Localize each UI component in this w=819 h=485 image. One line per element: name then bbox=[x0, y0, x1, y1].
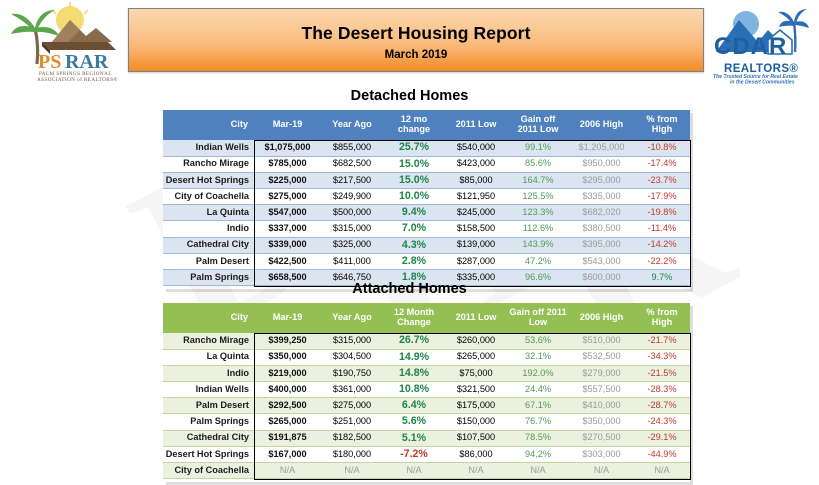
cell-city: Desert Hot Springs bbox=[163, 172, 254, 188]
cell-year-ago: $325,000 bbox=[321, 237, 383, 253]
cell-mar19: $339,000 bbox=[254, 237, 321, 253]
cell-city: La Quinta bbox=[163, 205, 254, 221]
cell-12mo-change: 7.0% bbox=[383, 221, 445, 237]
cell-year-ago: N/A bbox=[321, 463, 383, 479]
detached-homes-table-wrap: City Mar-19 Year Ago 12 mochange 2011 Lo… bbox=[163, 110, 690, 286]
cell-pct-from-high: -10.8% bbox=[634, 140, 690, 156]
cell-year-ago: $275,000 bbox=[321, 398, 383, 414]
cell-12month-change: 5.6% bbox=[383, 414, 445, 430]
cell-gain: 112.6% bbox=[507, 221, 569, 237]
col-head-mar19: Mar-19 bbox=[254, 110, 321, 140]
cell-city: Indian Wells bbox=[163, 140, 254, 156]
cell-12month-change: 5.1% bbox=[383, 430, 445, 446]
cell-year-ago: $251,000 bbox=[321, 414, 383, 430]
cell-year-ago: $315,000 bbox=[321, 333, 383, 349]
cell-2006-high: $557,500 bbox=[569, 382, 634, 398]
page-subtitle: March 2019 bbox=[385, 49, 448, 61]
col-head-gain-off-2011-low: Gain off2011 Low bbox=[507, 110, 569, 140]
cell-2011-low: $423,000 bbox=[445, 156, 507, 172]
cell-city: City of Coachella bbox=[163, 463, 254, 479]
cell-12mo-change: 25.7% bbox=[383, 140, 445, 156]
col-head-mar19: Mar-19 bbox=[254, 303, 321, 333]
table-row: Indio $219,000 $190,750 14.8% $75,000 19… bbox=[163, 365, 690, 381]
cell-2011-low: $75,000 bbox=[445, 365, 507, 381]
cell-2011-low: $85,000 bbox=[445, 172, 507, 188]
cell-2006-high: N/A bbox=[569, 463, 634, 479]
cell-pct-from-high: -17.4% bbox=[634, 156, 690, 172]
cell-pct-from-high: -24.3% bbox=[634, 414, 690, 430]
cell-mar19: $547,000 bbox=[254, 205, 321, 221]
psrar-logo: PS RAR PALM SPRINGS REGIONAL ASSOCIATION… bbox=[8, 2, 126, 84]
cell-2011-low: $260,000 bbox=[445, 333, 507, 349]
cell-city: Rancho Mirage bbox=[163, 156, 254, 172]
cell-12month-change: 10.8% bbox=[383, 382, 445, 398]
cell-mar19: $292,500 bbox=[254, 398, 321, 414]
cell-12month-change: 6.4% bbox=[383, 398, 445, 414]
cell-2006-high: $510,000 bbox=[569, 333, 634, 349]
table-row: Rancho Mirage $785,000 $682,500 15.0% $4… bbox=[163, 156, 690, 172]
cell-2011-low: $86,000 bbox=[445, 446, 507, 462]
cell-gain: 78.5% bbox=[507, 430, 569, 446]
cell-2006-high: $279,000 bbox=[569, 365, 634, 381]
cell-mar19: $275,000 bbox=[254, 189, 321, 205]
cell-12month-change: -7.2% bbox=[383, 446, 445, 462]
cell-2006-high: $682,020 bbox=[569, 205, 634, 221]
cell-year-ago: $361,000 bbox=[321, 382, 383, 398]
cell-2011-low: $321,500 bbox=[445, 382, 507, 398]
col-head-2011-low: 2011 Low bbox=[445, 110, 507, 140]
cell-2006-high: $532,500 bbox=[569, 349, 634, 365]
table-row: La Quinta $350,000 $304,500 14.9% $265,0… bbox=[163, 349, 690, 365]
cell-12month-change: 14.8% bbox=[383, 365, 445, 381]
cell-year-ago: $500,000 bbox=[321, 205, 383, 221]
cell-2006-high: $350,000 bbox=[569, 414, 634, 430]
table-row: Indio $337,000 $315,000 7.0% $158,500 11… bbox=[163, 221, 690, 237]
cell-city: Cathedral City bbox=[163, 237, 254, 253]
cell-mar19: $400,000 bbox=[254, 382, 321, 398]
cell-gain: N/A bbox=[507, 463, 569, 479]
cell-2011-low: $245,000 bbox=[445, 205, 507, 221]
cell-pct-from-high: -19.8% bbox=[634, 205, 690, 221]
cell-city: Rancho Mirage bbox=[163, 333, 254, 349]
svg-text:CALIFORNIA DESERT ASSOCIATION: CALIFORNIA DESERT ASSOCIATION OF bbox=[722, 57, 805, 62]
detached-table-body: Indian Wells $1,075,000 $855,000 25.7% $… bbox=[163, 140, 690, 286]
cell-city: Indian Wells bbox=[163, 382, 254, 398]
svg-text:in the Desert Communities: in the Desert Communities bbox=[730, 80, 795, 85]
cell-city: La Quinta bbox=[163, 349, 254, 365]
table-row: Indian Wells $400,000 $361,000 10.8% $32… bbox=[163, 382, 690, 398]
cell-city: Indio bbox=[163, 221, 254, 237]
cell-2006-high: $380,500 bbox=[569, 221, 634, 237]
cell-2011-low: $265,000 bbox=[445, 349, 507, 365]
detached-header-row: City Mar-19 Year Ago 12 mochange 2011 Lo… bbox=[163, 110, 690, 140]
col-head-year-ago: Year Ago bbox=[321, 110, 383, 140]
cell-gain: 67.1% bbox=[507, 398, 569, 414]
cell-12mo-change: 4.3% bbox=[383, 237, 445, 253]
cell-12mo-change: 2.8% bbox=[383, 253, 445, 269]
attached-header-row: City Mar-19 Year Ago 12 MonthChange 2011… bbox=[163, 303, 690, 333]
cell-year-ago: $180,000 bbox=[321, 446, 383, 462]
cell-pct-from-high: -14.2% bbox=[634, 237, 690, 253]
svg-text:PS: PS bbox=[38, 51, 61, 73]
table-row: Palm Desert $292,500 $275,000 6.4% $175,… bbox=[163, 398, 690, 414]
cell-2011-low: $121,950 bbox=[445, 189, 507, 205]
cell-2011-low: $107,500 bbox=[445, 430, 507, 446]
attached-table-body: Rancho Mirage $399,250 $315,000 26.7% $2… bbox=[163, 333, 690, 479]
cell-2011-low: $150,000 bbox=[445, 414, 507, 430]
cell-2011-low: $287,000 bbox=[445, 253, 507, 269]
cell-gain: 53.6% bbox=[507, 333, 569, 349]
table-row: Cathedral City $339,000 $325,000 4.3% $1… bbox=[163, 237, 690, 253]
cell-pct-from-high: N/A bbox=[634, 463, 690, 479]
cell-pct-from-high: -28.3% bbox=[634, 382, 690, 398]
cell-2006-high: $395,000 bbox=[569, 237, 634, 253]
cell-2006-high: $335,000 bbox=[569, 189, 634, 205]
cell-12month-change: 14.9% bbox=[383, 349, 445, 365]
cell-gain: 94.2% bbox=[507, 446, 569, 462]
cell-pct-from-high: -21.7% bbox=[634, 333, 690, 349]
table-row: Rancho Mirage $399,250 $315,000 26.7% $2… bbox=[163, 333, 690, 349]
cell-mar19: N/A bbox=[254, 463, 321, 479]
col-head-city: City bbox=[163, 303, 254, 333]
cell-2006-high: $543,000 bbox=[569, 253, 634, 269]
report-title-banner: The Desert Housing Report March 2019 bbox=[128, 8, 704, 72]
cell-gain: 99.1% bbox=[507, 140, 569, 156]
cell-mar19: $785,000 bbox=[254, 156, 321, 172]
cell-mar19: $167,000 bbox=[254, 446, 321, 462]
svg-text:RAR: RAR bbox=[65, 51, 109, 73]
svg-text:CDAR: CDAR bbox=[714, 33, 787, 60]
cell-pct-from-high: -11.4% bbox=[634, 221, 690, 237]
col-head-pct-from-high: % fromHigh bbox=[634, 110, 690, 140]
col-head-2011-low: 2011 Low bbox=[445, 303, 507, 333]
cell-2011-low: N/A bbox=[445, 463, 507, 479]
col-head-2006-high: 2006 High bbox=[569, 110, 634, 140]
table-row: Palm Desert $422,500 $411,000 2.8% $287,… bbox=[163, 253, 690, 269]
cell-gain: 164.7% bbox=[507, 172, 569, 188]
col-head-12month-change: 12 MonthChange bbox=[383, 303, 445, 333]
cell-year-ago: $217,500 bbox=[321, 172, 383, 188]
cell-2006-high: $295,000 bbox=[569, 172, 634, 188]
report-header: PS RAR PALM SPRINGS REGIONAL ASSOCIATION… bbox=[0, 0, 819, 86]
cell-gain: 123.3% bbox=[507, 205, 569, 221]
cell-12mo-change: 9.4% bbox=[383, 205, 445, 221]
cell-gain: 192.0% bbox=[507, 365, 569, 381]
col-head-city: City bbox=[163, 110, 254, 140]
cell-mar19: $350,000 bbox=[254, 349, 321, 365]
cell-year-ago: $190,750 bbox=[321, 365, 383, 381]
cell-2011-low: $540,000 bbox=[445, 140, 507, 156]
table-row: City of Coachella N/A N/A N/A N/A N/A N/… bbox=[163, 463, 690, 479]
cell-gain: 85.6% bbox=[507, 156, 569, 172]
cell-2006-high: $1,205,000 bbox=[569, 140, 634, 156]
cell-year-ago: $304,500 bbox=[321, 349, 383, 365]
cell-mar19: $219,000 bbox=[254, 365, 321, 381]
cdar-logo: CDAR CALIFORNIA DESERT ASSOCIATION OF RE… bbox=[706, 2, 816, 84]
cell-pct-from-high: -21.5% bbox=[634, 365, 690, 381]
cell-city: Palm Springs bbox=[163, 414, 254, 430]
cell-gain: 125.5% bbox=[507, 189, 569, 205]
cell-mar19: $265,000 bbox=[254, 414, 321, 430]
cell-2011-low: $139,000 bbox=[445, 237, 507, 253]
col-head-gain-off-2011-low: Gain off 2011Low bbox=[507, 303, 569, 333]
cell-mar19: $225,000 bbox=[254, 172, 321, 188]
cell-pct-from-high: -28.7% bbox=[634, 398, 690, 414]
svg-text:ASSOCIATION of REALTORS®: ASSOCIATION of REALTORS® bbox=[37, 76, 118, 83]
cell-mar19: $1,075,000 bbox=[254, 140, 321, 156]
col-head-12mo-change: 12 mochange bbox=[383, 110, 445, 140]
cell-city: Cathedral City bbox=[163, 430, 254, 446]
cell-gain: 47.2% bbox=[507, 253, 569, 269]
col-head-pct-from-high: % fromHigh bbox=[634, 303, 690, 333]
cell-12mo-change: 15.0% bbox=[383, 156, 445, 172]
cell-2011-low: $175,000 bbox=[445, 398, 507, 414]
cell-city: Palm Desert bbox=[163, 253, 254, 269]
cell-pct-from-high: -22.2% bbox=[634, 253, 690, 269]
attached-table-side-shadow bbox=[690, 306, 693, 482]
cell-pct-from-high: -44.9% bbox=[634, 446, 690, 462]
table-row: Palm Springs $265,000 $251,000 5.6% $150… bbox=[163, 414, 690, 430]
cell-city: Indio bbox=[163, 365, 254, 381]
cell-year-ago: $411,000 bbox=[321, 253, 383, 269]
cell-year-ago: $315,000 bbox=[321, 221, 383, 237]
table-row: Desert Hot Springs $225,000 $217,500 15.… bbox=[163, 172, 690, 188]
cell-12mo-change: 15.0% bbox=[383, 172, 445, 188]
attached-homes-title: Attached Homes bbox=[0, 281, 819, 297]
cell-pct-from-high: -34.3% bbox=[634, 349, 690, 365]
cell-2006-high: $950,000 bbox=[569, 156, 634, 172]
cell-2011-low: $158,500 bbox=[445, 221, 507, 237]
cell-mar19: $337,000 bbox=[254, 221, 321, 237]
table-row: La Quinta $547,000 $500,000 9.4% $245,00… bbox=[163, 205, 690, 221]
cell-pct-from-high: -29.1% bbox=[634, 430, 690, 446]
table-row: Cathedral City $191,875 $182,500 5.1% $1… bbox=[163, 430, 690, 446]
cell-mar19: $399,250 bbox=[254, 333, 321, 349]
cell-year-ago: $249,900 bbox=[321, 189, 383, 205]
detached-homes-title: Detached Homes bbox=[0, 88, 819, 104]
table-row: Indian Wells $1,075,000 $855,000 25.7% $… bbox=[163, 140, 690, 156]
cell-pct-from-high: -17.9% bbox=[634, 189, 690, 205]
col-head-year-ago: Year Ago bbox=[321, 303, 383, 333]
attached-homes-table: City Mar-19 Year Ago 12 MonthChange 2011… bbox=[163, 303, 690, 479]
cell-2006-high: $303,000 bbox=[569, 446, 634, 462]
cell-2006-high: $410,000 bbox=[569, 398, 634, 414]
table-row: City of Coachella $275,000 $249,900 10.0… bbox=[163, 189, 690, 205]
cell-gain: 76.7% bbox=[507, 414, 569, 430]
col-head-2006-high: 2006 High bbox=[569, 303, 634, 333]
cell-gain: 143.9% bbox=[507, 237, 569, 253]
cell-city: Desert Hot Springs bbox=[163, 446, 254, 462]
cell-city: City of Coachella bbox=[163, 189, 254, 205]
cell-year-ago: $182,500 bbox=[321, 430, 383, 446]
detached-homes-table: City Mar-19 Year Ago 12 mochange 2011 Lo… bbox=[163, 110, 690, 286]
cell-city: Palm Desert bbox=[163, 398, 254, 414]
page-title: The Desert Housing Report bbox=[301, 23, 530, 44]
table-row: Desert Hot Springs $167,000 $180,000 -7.… bbox=[163, 446, 690, 462]
cell-12month-change: N/A bbox=[383, 463, 445, 479]
cell-12month-change: 26.7% bbox=[383, 333, 445, 349]
cell-year-ago: $682,500 bbox=[321, 156, 383, 172]
detached-table-side-shadow bbox=[690, 113, 693, 289]
cell-2006-high: $270,500 bbox=[569, 430, 634, 446]
cell-mar19: $191,875 bbox=[254, 430, 321, 446]
cell-gain: 24.4% bbox=[507, 382, 569, 398]
cell-gain: 32.1% bbox=[507, 349, 569, 365]
attached-homes-table-wrap: City Mar-19 Year Ago 12 MonthChange 2011… bbox=[163, 303, 690, 479]
cell-mar19: $422,500 bbox=[254, 253, 321, 269]
cell-pct-from-high: -23.7% bbox=[634, 172, 690, 188]
cell-12mo-change: 10.0% bbox=[383, 189, 445, 205]
cell-year-ago: $855,000 bbox=[321, 140, 383, 156]
